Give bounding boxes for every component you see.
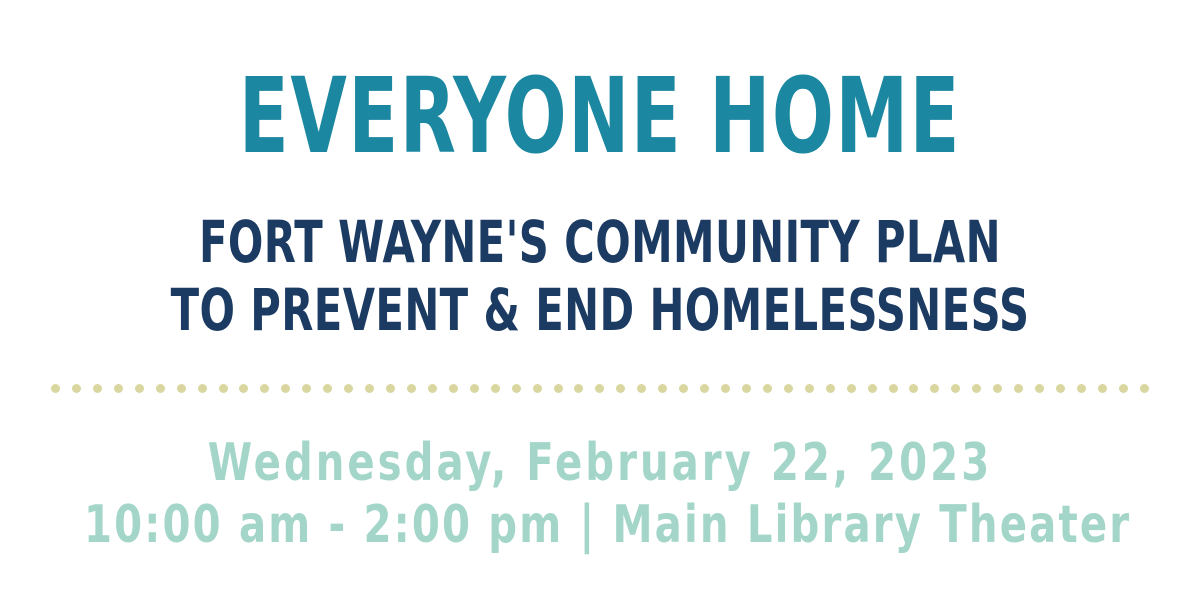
divider-dot [1119, 384, 1128, 393]
divider-dot [386, 384, 395, 393]
divider-dot [784, 384, 793, 393]
divider-dot [1056, 384, 1065, 393]
divider-dot [198, 384, 207, 393]
divider-dot [993, 384, 1002, 393]
divider-dot [554, 384, 563, 393]
divider-dot [826, 384, 835, 393]
divider-dot [533, 384, 542, 393]
divider-dot [595, 384, 604, 393]
divider-dot [281, 384, 290, 393]
event-date: Wednesday, February 22, 2023 [84, 432, 1116, 494]
divider-dot [1077, 384, 1086, 393]
divider-dot [972, 384, 981, 393]
divider-dot [1014, 384, 1023, 393]
divider-dot [156, 384, 165, 393]
divider-dot [260, 384, 269, 393]
divider-dot [700, 384, 709, 393]
divider-dot [114, 384, 123, 393]
divider-dot [951, 384, 960, 393]
divider-dot [616, 384, 625, 393]
divider-dot [742, 384, 751, 393]
divider-dot [449, 384, 458, 393]
divider-dot [491, 384, 500, 393]
divider-dot [135, 384, 144, 393]
divider-dot [889, 384, 898, 393]
divider-dot [93, 384, 102, 393]
divider-dot [365, 384, 374, 393]
divider-dot [512, 384, 521, 393]
event-details-block: Wednesday, February 22, 2023 10:00 am - … [0, 432, 1200, 556]
divider-dot [1035, 384, 1044, 393]
divider-dot [763, 384, 772, 393]
divider-dot [658, 384, 667, 393]
divider-dot [407, 384, 416, 393]
divider-dot [219, 384, 228, 393]
divider-dot [1140, 384, 1149, 393]
divider-dot [51, 384, 60, 393]
event-time-and-venue: 10:00 am - 2:00 pm | Main Library Theate… [84, 494, 1116, 556]
divider-dot [239, 384, 248, 393]
divider-dot [344, 384, 353, 393]
subtitle-line-2: TO PREVENT & END HOMELESSNESS [120, 276, 1080, 344]
divider-dot [428, 384, 437, 393]
divider-dot [637, 384, 646, 393]
divider-dot [1098, 384, 1107, 393]
subtitle-block: FORT WAYNE'S COMMUNITY PLAN TO PREVENT &… [0, 208, 1200, 344]
divider-dot [868, 384, 877, 393]
divider-dot [574, 384, 583, 393]
divider-dot [805, 384, 814, 393]
divider-dot [177, 384, 186, 393]
divider-dot [679, 384, 688, 393]
divider-dot [930, 384, 939, 393]
divider-dot [323, 384, 332, 393]
divider-dot [470, 384, 479, 393]
divider-dot [302, 384, 311, 393]
divider-dot [909, 384, 918, 393]
divider-dot [847, 384, 856, 393]
page-title: EVERYONE HOME [132, 64, 1068, 168]
divider-dot [721, 384, 730, 393]
dotted-rule-icon [51, 383, 1149, 393]
subtitle-line-1: FORT WAYNE'S COMMUNITY PLAN [120, 208, 1080, 276]
divider-dot [72, 384, 81, 393]
event-banner: EVERYONE HOME FORT WAYNE'S COMMUNITY PLA… [0, 0, 1200, 600]
